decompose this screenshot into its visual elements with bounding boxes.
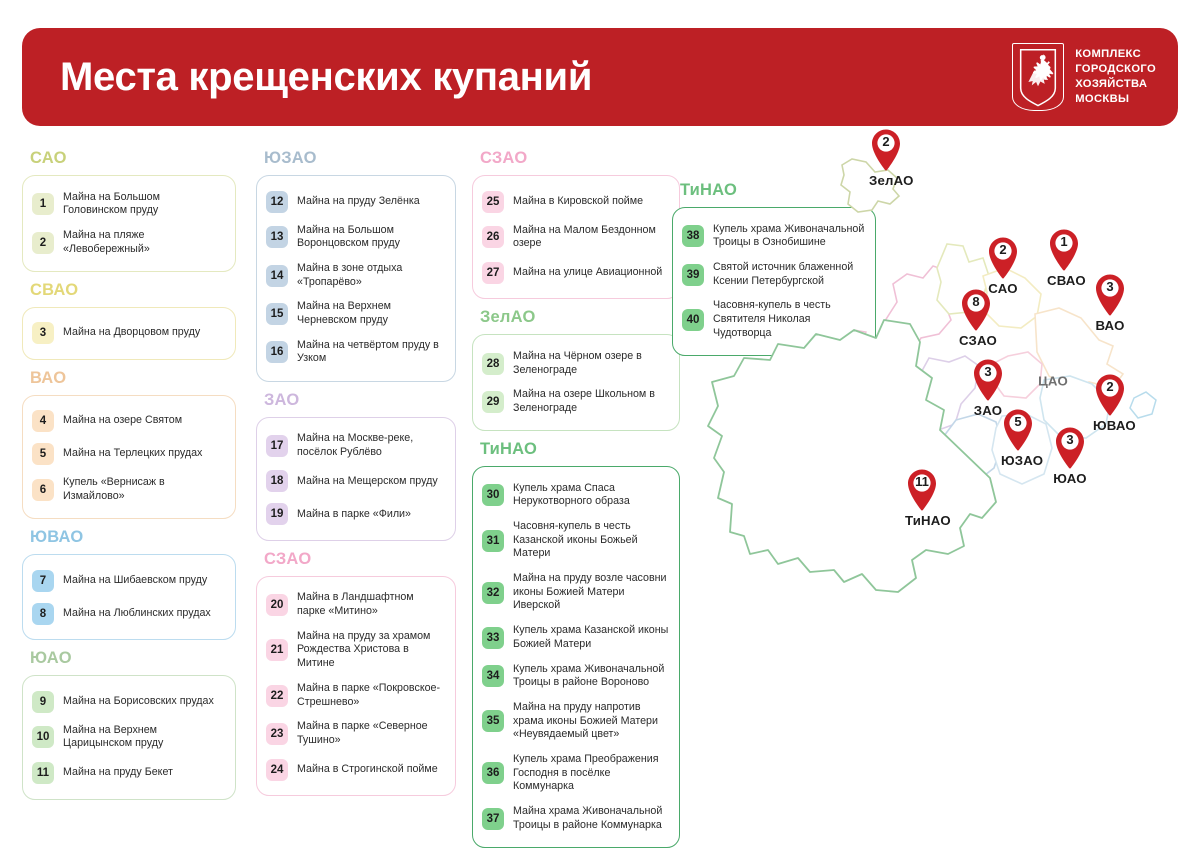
item-number-badge: 36	[482, 762, 504, 784]
list-item[interactable]: 36Купель храма Преображения Господня в п…	[482, 747, 669, 799]
item-number-badge: 21	[266, 639, 288, 661]
list-item[interactable]: 7Майна на Шибаевском пруду	[32, 564, 225, 597]
list-item[interactable]: 21Майна на пруду за храмом Рождества Хри…	[266, 624, 445, 676]
item-label: Майна на улице Авиационной	[513, 266, 662, 280]
item-number-badge: 14	[266, 265, 288, 287]
district-group-svao: СВАО3Майна на Дворцовом пруду	[22, 281, 236, 360]
district-group-box: 9Майна на Борисовских прудах10Майна на В…	[22, 675, 236, 799]
district-group-title: ЮАО	[30, 649, 236, 668]
list-item[interactable]: 23Майна в парке «Северное Тушино»	[266, 715, 445, 753]
item-number-badge: 18	[266, 470, 288, 492]
district-group-szao_1: СЗАО20Майна в Ландшафтном парке «Митино»…	[256, 550, 456, 796]
district-group-yuzao: ЮЗАО12Майна на пруду Зелёнка13Майна на Б…	[256, 149, 456, 382]
item-label: Майна в Строгинской пойме	[297, 763, 438, 777]
district-group-title: САО	[30, 149, 236, 168]
district-shape-svao	[983, 268, 1041, 328]
water-body-east	[1130, 392, 1156, 418]
item-number-badge: 17	[266, 435, 288, 457]
list-item[interactable]: 25Майна в Кировской пойме	[482, 185, 669, 218]
list-item[interactable]: 3Майна на Дворцовом пруду	[32, 317, 225, 350]
district-group-title: ТиНАО	[480, 440, 680, 459]
item-label: Майна на Дворцовом пруду	[63, 326, 200, 340]
item-label: Майна на озере Школьном в Зеленограде	[513, 388, 669, 415]
district-group-zelao: ЗелАО28Майна на Чёрном озере в Зеленогра…	[472, 308, 680, 431]
item-label: Майна на пруду возле часовни иконы Божие…	[513, 572, 669, 613]
item-number-badge: 10	[32, 726, 54, 748]
item-label: Майна в зоне отдыха «Тропарёво»	[297, 262, 445, 289]
item-number-badge: 33	[482, 627, 504, 649]
district-group-tinao_main: ТиНАО30Купель храма Спаса Нерукотворного…	[472, 440, 680, 848]
list-item[interactable]: 12Майна на пруду Зелёнка	[266, 185, 445, 218]
item-number-badge: 30	[482, 484, 504, 506]
district-group-szao_2: СЗАО25Майна в Кировской пойме26Майна на …	[472, 149, 680, 299]
district-group-vao: ВАО4Майна на озере Святом5Майна на Терле…	[22, 369, 236, 519]
item-number-badge: 4	[32, 410, 54, 432]
item-label: Майна на пруду напротив храма иконы Божи…	[513, 701, 669, 742]
list-item[interactable]: 17Майна на Москве-реке, посёлок Рублёво	[266, 427, 445, 465]
item-label: Майна на Большом Воронцовском пруду	[297, 224, 445, 251]
item-number-badge: 12	[266, 191, 288, 213]
list-item[interactable]: 28Майна на Чёрном озере в Зеленограде	[482, 344, 669, 382]
list-item[interactable]: 34Купель храма Живоначальной Троицы в ра…	[482, 657, 669, 695]
item-label: Майна на Чёрном озере в Зеленограде	[513, 350, 669, 377]
list-item[interactable]: 14Майна в зоне отдыха «Тропарёво»	[266, 256, 445, 294]
item-number-badge: 20	[266, 594, 288, 616]
list-item[interactable]: 33Купель храма Казанской иконы Божией Ма…	[482, 619, 669, 657]
item-number-badge: 27	[482, 262, 504, 284]
district-group-title: ЮВАО	[30, 528, 236, 547]
item-number-badge: 3	[32, 322, 54, 344]
logo-block: КОМПЛЕКС ГОРОДСКОГО ХОЗЯЙСТВА МОСКВЫ	[1012, 43, 1156, 111]
item-label: Купель храма Преображения Господня в пос…	[513, 753, 669, 794]
item-label: Майна на пруду Зелёнка	[297, 195, 420, 209]
list-item[interactable]: 5Майна на Терлецких прудах	[32, 438, 225, 471]
item-number-badge: 6	[32, 479, 54, 501]
district-group-yuvao: ЮВАО7Майна на Шибаевском пруду8Майна на …	[22, 528, 236, 640]
list-item[interactable]: 10Майна на Верхнем Царицынском пруду	[32, 718, 225, 756]
item-label: Майна на Мещерском пруду	[297, 475, 438, 489]
item-number-badge: 26	[482, 226, 504, 248]
district-group-box: 28Майна на Чёрном озере в Зеленограде29М…	[472, 334, 680, 431]
list-item[interactable]: 37Майна храма Живоначальной Троицы в рай…	[482, 800, 669, 838]
list-item[interactable]: 16Майна на четвёртом пруду в Узком	[266, 333, 445, 371]
item-number-badge: 7	[32, 570, 54, 592]
district-group-title: ВАО	[30, 369, 236, 388]
item-label: Купель храма Спаса Нерукотворного образа	[513, 482, 669, 509]
item-label: Купель «Вернисаж в Измайлово»	[63, 476, 225, 503]
item-label: Купель храма Живоначальной Троицы в райо…	[513, 663, 669, 690]
item-label: Майна на пруду Бекет	[63, 766, 173, 780]
district-group-box: 4Майна на озере Святом5Майна на Терлецки…	[22, 395, 236, 519]
district-shape-yuao	[992, 414, 1052, 484]
header-card: Места крещенских купаний КОМПЛЕКС ГОРОДС…	[22, 28, 1178, 126]
list-item[interactable]: 1Майна на Большом Головинском пруду	[32, 185, 225, 223]
item-label: Майна на Терлецких прудах	[63, 447, 202, 461]
item-number-badge: 32	[482, 582, 504, 604]
item-label: Купель храма Казанской иконы Божией Мате…	[513, 624, 669, 651]
list-item[interactable]: 8Майна на Люблинских прудах	[32, 597, 225, 630]
logo-line-4: МОСКВЫ	[1075, 92, 1156, 107]
item-label: Майна на Борисовских прудах	[63, 695, 214, 709]
item-label: Майна на Шибаевском пруду	[63, 574, 207, 588]
item-label: Майна на Верхнем Царицынском пруду	[63, 724, 225, 751]
item-label: Майна на Большом Головинском пруду	[63, 191, 225, 218]
district-group-title: СВАО	[30, 281, 236, 300]
item-label: Майна на озере Святом	[63, 414, 182, 428]
item-label: Майна на пруду за храмом Рождества Христ…	[297, 630, 445, 671]
logo-line-1: КОМПЛЕКС	[1075, 47, 1156, 62]
list-item[interactable]: 2Майна на пляже «Левобережный»	[32, 223, 225, 261]
district-shape-cao	[992, 352, 1042, 398]
district-group-box: 7Майна на Шибаевском пруду8Майна на Любл…	[22, 554, 236, 640]
column-3: СЗАО25Майна в Кировской пойме26Майна на …	[472, 140, 680, 852]
district-group-box: 25Майна в Кировской пойме26Майна на Мало…	[472, 175, 680, 299]
item-number-badge: 8	[32, 603, 54, 625]
district-group-zao: ЗАО17Майна на Москве-реке, посёлок Рублё…	[256, 391, 456, 541]
district-group-title: СЗАО	[264, 550, 456, 569]
district-group-box: 3Майна на Дворцовом пруду	[22, 307, 236, 360]
list-item[interactable]: 9Майна на Борисовских прудах	[32, 685, 225, 718]
list-item[interactable]: 13Майна на Большом Воронцовском пруду	[266, 218, 445, 256]
column-1: САО1Майна на Большом Головинском пруду2М…	[22, 140, 236, 852]
item-label: Майна храма Живоначальной Троицы в район…	[513, 805, 669, 832]
item-number-badge: 19	[266, 503, 288, 525]
item-number-badge: 29	[482, 391, 504, 413]
column-2: ЮЗАО12Майна на пруду Зелёнка13Майна на Б…	[256, 140, 456, 852]
item-label: Часовня-купель в честь Казанской иконы Б…	[513, 520, 669, 561]
district-group-title: СЗАО	[480, 149, 680, 168]
item-label: Майна на Малом Бездонном озере	[513, 224, 669, 251]
item-number-badge: 5	[32, 443, 54, 465]
item-number-badge: 15	[266, 303, 288, 325]
district-group-box: 20Майна в Ландшафтном парке «Митино»21Ма…	[256, 576, 456, 796]
list-item[interactable]: 35Майна на пруду напротив храма иконы Бо…	[482, 695, 669, 747]
district-group-title: ЮЗАО	[264, 149, 456, 168]
item-label: Майна на Люблинских прудах	[63, 607, 211, 621]
moscow-districts-map: 2ЗелАО1СВАО2САО3ВАО8СЗАО3ЗАО2ЮВАО5ЮЗАО3Ю…	[690, 128, 1200, 800]
logo-line-2: ГОРОДСКОГО	[1075, 62, 1156, 77]
item-label: Майна на Верхнем Черневском пруду	[297, 300, 445, 327]
district-shape-zelao	[841, 159, 899, 212]
list-item[interactable]: 30Купель храма Спаса Нерукотворного обра…	[482, 476, 669, 514]
list-item[interactable]: 24Майна в Строгинской пойме	[266, 753, 445, 786]
list-item[interactable]: 32Майна на пруду возле часовни иконы Бож…	[482, 567, 669, 619]
item-label: Майна в парке «Фили»	[297, 508, 411, 522]
list-item[interactable]: 26Майна на Малом Бездонном озере	[482, 218, 669, 256]
list-item[interactable]: 29Майна на озере Школьном в Зеленограде	[482, 383, 669, 421]
item-label: Майна на Москве-реке, посёлок Рублёво	[297, 432, 445, 459]
item-number-badge: 13	[266, 226, 288, 248]
item-number-badge: 22	[266, 685, 288, 707]
item-number-badge: 28	[482, 353, 504, 375]
item-number-badge: 2	[32, 232, 54, 254]
item-number-badge: 16	[266, 341, 288, 363]
list-item[interactable]: 15Майна на Верхнем Черневском пруду	[266, 295, 445, 333]
district-group-title: ЗАО	[264, 391, 456, 410]
item-number-badge: 37	[482, 808, 504, 830]
list-item[interactable]: 19Майна в парке «Фили»	[266, 498, 445, 531]
item-number-badge: 9	[32, 691, 54, 713]
district-group-sao: САО1Майна на Большом Головинском пруду2М…	[22, 149, 236, 272]
district-group-title: ЗелАО	[480, 308, 680, 327]
item-label: Майна на четвёртом пруду в Узком	[297, 339, 445, 366]
list-item[interactable]: 27Майна на улице Авиационной	[482, 256, 669, 289]
district-group-box: 30Купель храма Спаса Нерукотворного обра…	[472, 466, 680, 848]
district-group-yuao: ЮАО9Майна на Борисовских прудах10Майна н…	[22, 649, 236, 799]
list-item[interactable]: 4Майна на озере Святом	[32, 405, 225, 438]
district-group-box: 1Майна на Большом Головинском пруду2Майн…	[22, 175, 236, 272]
page-title: Места крещенских купаний	[60, 55, 592, 100]
logo-text: КОМПЛЕКС ГОРОДСКОГО ХОЗЯЙСТВА МОСКВЫ	[1075, 47, 1156, 107]
item-number-badge: 24	[266, 759, 288, 781]
list-item[interactable]: 31Часовня-купель в честь Казанской иконы…	[482, 515, 669, 567]
item-label: Майна в Кировской пойме	[513, 195, 643, 209]
item-number-badge: 35	[482, 710, 504, 732]
district-shape-sao	[937, 244, 989, 314]
item-number-badge: 34	[482, 665, 504, 687]
item-label: Майна в Ландшафтном парке «Митино»	[297, 591, 445, 618]
item-label: Майна в парке «Северное Тушино»	[297, 720, 445, 747]
list-item[interactable]: 20Майна в Ландшафтном парке «Митино»	[266, 586, 445, 624]
item-number-badge: 23	[266, 723, 288, 745]
list-item[interactable]: 11Майна на пруду Бекет	[32, 757, 225, 790]
item-label: Майна на пляже «Левобережный»	[63, 229, 225, 256]
map-label-cao: ЦАО	[1038, 374, 1068, 389]
list-item[interactable]: 6Купель «Вернисаж в Измайлово»	[32, 471, 225, 509]
item-number-badge: 11	[32, 762, 54, 784]
item-number-badge: 31	[482, 530, 504, 552]
list-item[interactable]: 18Майна на Мещерском пруду	[266, 465, 445, 498]
item-number-badge: 1	[32, 193, 54, 215]
list-item[interactable]: 22Майна в парке «Покровское-Стрешнево»	[266, 676, 445, 714]
moscow-coat-of-arms-icon	[1012, 43, 1064, 111]
district-group-box: 12Майна на пруду Зелёнка13Майна на Больш…	[256, 175, 456, 382]
district-group-box: 17Майна на Москве-реке, посёлок Рублёво1…	[256, 417, 456, 541]
item-label: Майна в парке «Покровское-Стрешнево»	[297, 682, 445, 709]
item-number-badge: 25	[482, 191, 504, 213]
logo-line-3: ХОЗЯЙСТВА	[1075, 77, 1156, 92]
